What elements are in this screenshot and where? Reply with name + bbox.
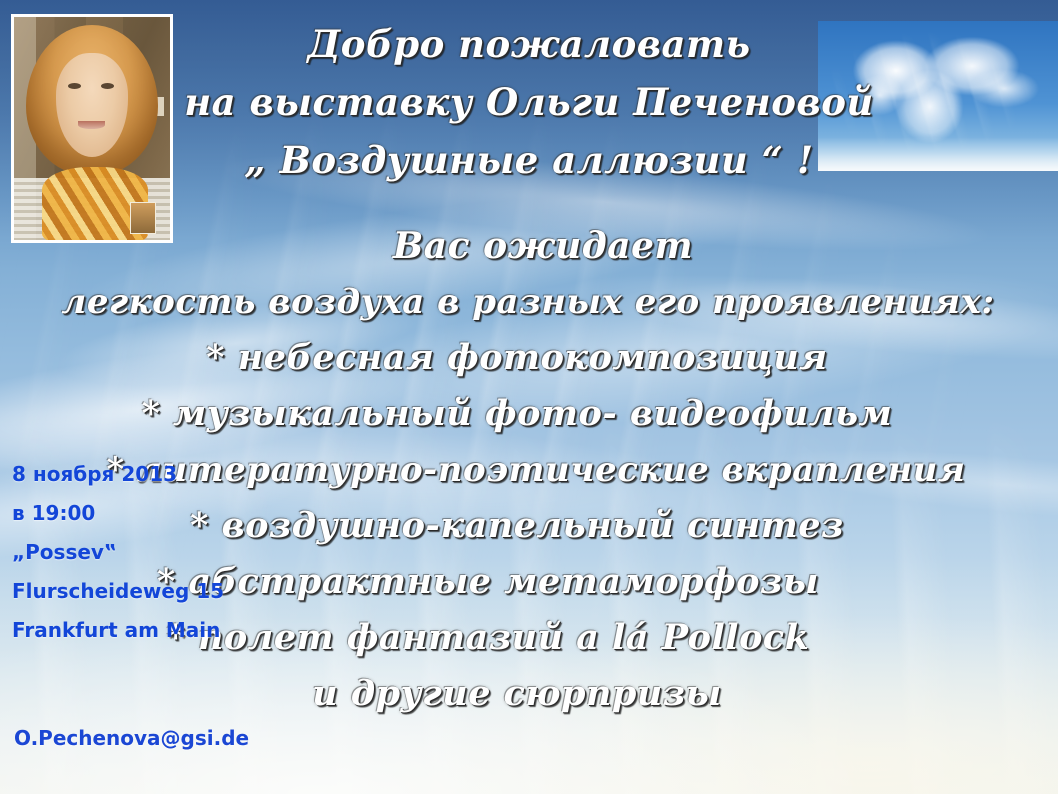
intro-line-2: легкость воздуха в разных его проявления… bbox=[0, 274, 1046, 330]
programme-item-2: * музыкальный фото- видеофильм bbox=[0, 386, 1046, 442]
contact-email[interactable]: O.Pechenova@gsi.de bbox=[14, 726, 249, 750]
programme-item-7: и другие сюрпризы bbox=[0, 666, 1046, 722]
venue-city: Frankfurt am Main bbox=[12, 611, 312, 650]
cut-off-trailing-line: и bbox=[0, 784, 1058, 794]
headline-line-3: „ Воздушные аллюзии “ ! bbox=[0, 134, 1058, 192]
tail-text: и bbox=[516, 784, 541, 794]
venue-street: Flurscheideweg 15 bbox=[12, 572, 312, 611]
programme-item-1: * небесная фотокомпозиция bbox=[0, 330, 1046, 386]
poster-canvas: Добро пожаловать на выставку Ольги Печен… bbox=[0, 0, 1058, 794]
event-details-block: 8 ноября 2013 в 19:00 „Possev‟ Flurschei… bbox=[12, 455, 312, 650]
headline-line-2: на выставку Ольги Печеновой bbox=[0, 76, 1058, 134]
headline-block: Добро пожаловать на выставку Ольги Печен… bbox=[0, 18, 1058, 192]
intro-line-1: Вас ожидает bbox=[0, 218, 1046, 274]
venue-name: „Possev‟ bbox=[12, 533, 312, 572]
event-date: 8 ноября 2013 bbox=[12, 455, 312, 494]
headline-line-1: Добро пожаловать bbox=[0, 18, 1058, 76]
event-time: в 19:00 bbox=[12, 494, 312, 533]
